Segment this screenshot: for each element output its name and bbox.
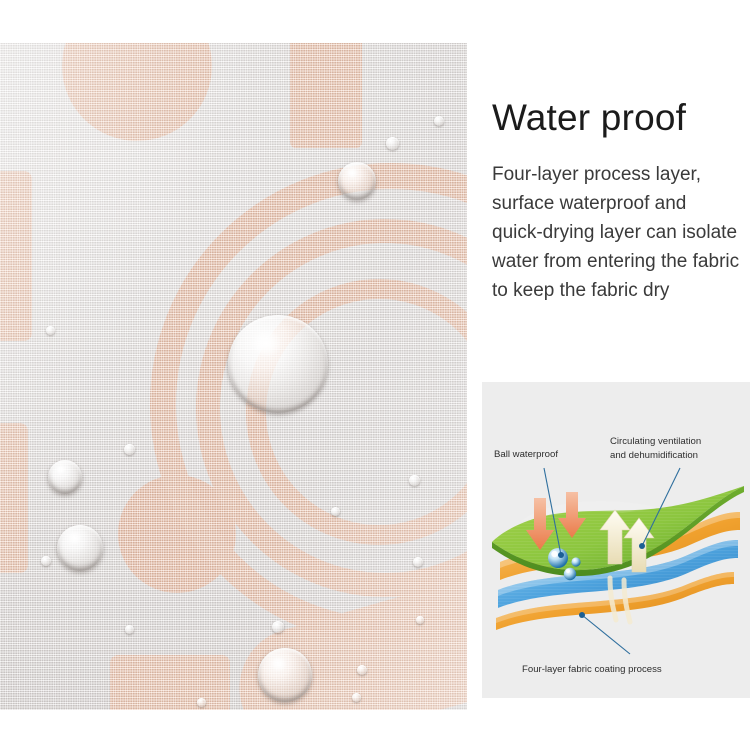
water-droplet [434,116,444,126]
label-circulating-line2: and dehumidification [610,450,698,461]
leader-dot-ventilation [639,543,645,549]
page-title: Water proof [492,96,742,140]
water-droplet [197,698,206,707]
water-droplet [331,507,340,516]
leader-dot-four-layer [579,612,585,618]
water-droplet [357,665,367,675]
feature-text-column: Water proof Four-layer process layer, su… [492,96,742,305]
water-droplet [46,326,55,335]
label-four-layer-process: Four-layer fabric coating process [522,664,662,675]
four-layer-diagram-panel: Ball waterproof Circulating ventilation … [482,382,750,698]
product-feature-page: Water proof Four-layer process layer, su… [0,0,750,750]
water-droplet [409,475,420,486]
water-droplet [413,557,423,567]
water-droplet [41,556,51,566]
water-droplet [57,525,103,571]
water-droplet [48,460,82,494]
water-droplet [386,137,399,150]
fabric-photo-frame [0,43,470,713]
feature-description: Four-layer process layer, surface waterp… [492,160,742,305]
water-droplet [258,648,312,702]
label-circulating-line1: Circulating ventilation [610,436,701,447]
water-droplet [416,616,424,624]
water-droplet [272,621,284,633]
leader-dot-ball-waterproof [558,552,564,558]
water-droplet-large [228,315,328,413]
water-droplet [352,693,361,702]
label-ball-waterproof: Ball waterproof [494,449,558,460]
water-droplet [124,444,135,455]
water-droplet [338,162,376,200]
fabric-photo [0,43,467,710]
water-droplet [125,625,134,634]
